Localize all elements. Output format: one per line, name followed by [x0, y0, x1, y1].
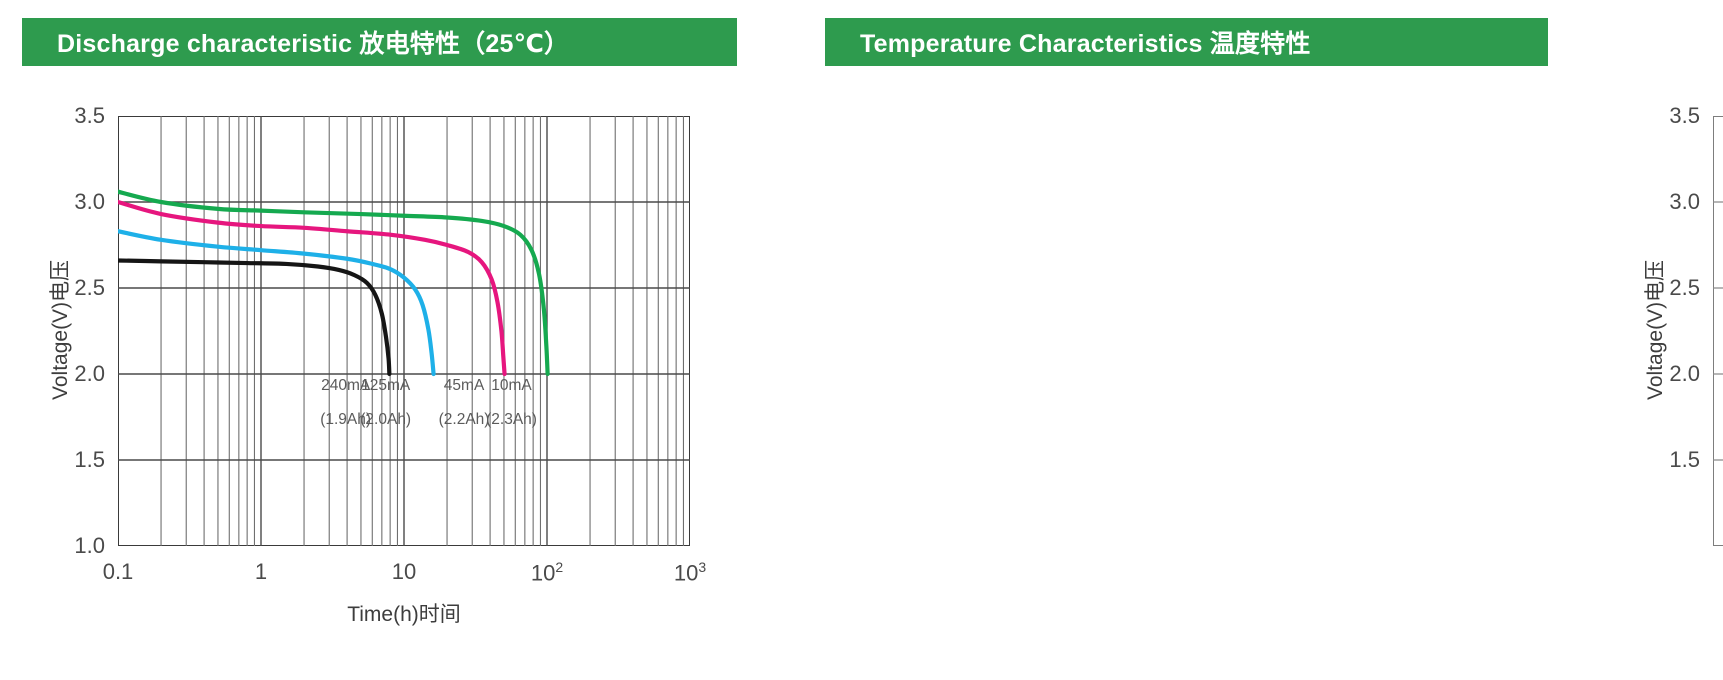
- x-tick-label: 103: [674, 559, 706, 586]
- x-tick-label: 10: [392, 559, 416, 585]
- series-current-label: 45mA: [444, 377, 485, 395]
- y-tick-label: 1.5: [74, 447, 105, 473]
- series-capacity-label: (2.2Ah): [439, 411, 490, 429]
- y-tick-label: 3.5: [74, 103, 105, 129]
- y-tick-label: 1.5: [1669, 447, 1700, 473]
- x-tick-label: 0.1: [103, 559, 134, 585]
- series-current-label: 10mA: [491, 377, 532, 395]
- discharge-y-axis-label: Voltage(V)电压: [44, 260, 74, 400]
- y-tick-label: 3.0: [74, 189, 105, 215]
- y-tick-label: 2.0: [74, 361, 105, 387]
- discharge-gridlines: [118, 116, 690, 546]
- y-tick-label: 2.0: [1669, 361, 1700, 387]
- page-root: Discharge characteristic 放电特性（25℃） Volta…: [0, 0, 1723, 680]
- y-tick-label: 2.5: [74, 275, 105, 301]
- temperature-characteristics-panel: Temperature Characteristics 温度特性 Voltage…: [810, 0, 1723, 680]
- discharge-header-title: Discharge characteristic 放电特性（25℃）: [57, 24, 569, 60]
- y-tick-label: 1.0: [74, 533, 105, 559]
- series-current-label: 125mA: [361, 377, 410, 395]
- x-tick-label: 102: [531, 559, 563, 586]
- temperature-chart: 3.53.02.52.01.5 010203040506070 -20℃0℃20…: [1713, 116, 1723, 546]
- temperature-header-bar: Temperature Characteristics 温度特性: [825, 18, 1548, 66]
- discharge-chart: 3.53.02.52.01.51.0 0.1110102103 240mA125…: [118, 116, 690, 546]
- temperature-x-axis-label: Time(h)时间: [1713, 598, 1723, 628]
- temperature-y-axis-label: Voltage(V)电压: [1639, 260, 1669, 400]
- series-capacity-label: (2.0Ah): [360, 411, 411, 429]
- y-tick-label: 3.0: [1669, 189, 1700, 215]
- y-tick-label: 2.5: [1669, 275, 1700, 301]
- x-tick-label: 1: [255, 559, 267, 585]
- discharge-header-bar: Discharge characteristic 放电特性（25℃）: [22, 18, 737, 66]
- discharge-characteristic-panel: Discharge characteristic 放电特性（25℃） Volta…: [0, 0, 800, 680]
- discharge-x-axis-label: Time(h)时间: [118, 598, 690, 628]
- series-capacity-label: (2.3Ah): [486, 411, 537, 429]
- y-tick-label: 3.5: [1669, 103, 1700, 129]
- temperature-header-title: Temperature Characteristics 温度特性: [860, 24, 1311, 60]
- temperature-gridlines: [1713, 116, 1723, 546]
